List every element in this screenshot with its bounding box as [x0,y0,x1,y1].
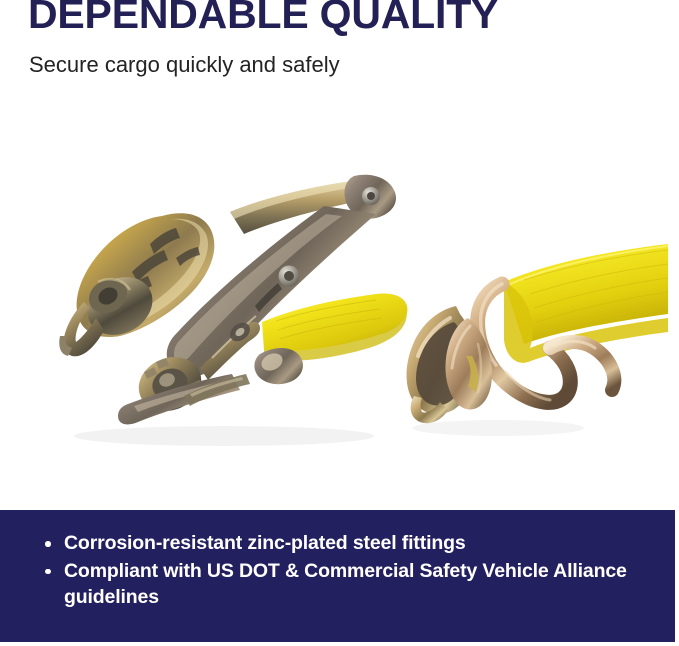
j-hook-image [378,236,668,441]
feature-bullet-item: Corrosion-resistant zinc-plated steel fi… [45,531,645,557]
bullet-dot-icon [45,541,51,547]
feature-bullet-text: Compliant with US DOT & Commercial Safet… [64,560,627,608]
ratchet-buckle-illustration [24,140,414,450]
feature-bullet-text: Corrosion-resistant zinc-plated steel fi… [64,532,466,554]
product-feature-infographic: DEPENDABLE QUALITY Secure cargo quickly … [0,0,679,646]
feature-banner: Corrosion-resistant zinc-plated steel fi… [0,510,675,642]
feature-bullet-list: Corrosion-resistant zinc-plated steel fi… [45,531,645,613]
feature-bullet-item: Compliant with US DOT & Commercial Safet… [45,559,645,611]
ratchet-buckle-image [24,140,414,450]
j-hook-illustration [378,236,668,441]
ratchet-axle-pin [254,348,303,384]
product-photo-stage [0,108,679,503]
page-subtitle: Secure cargo quickly and safely [29,52,340,78]
page-title: DEPENDABLE QUALITY [28,0,498,36]
bullet-dot-icon [45,569,51,575]
